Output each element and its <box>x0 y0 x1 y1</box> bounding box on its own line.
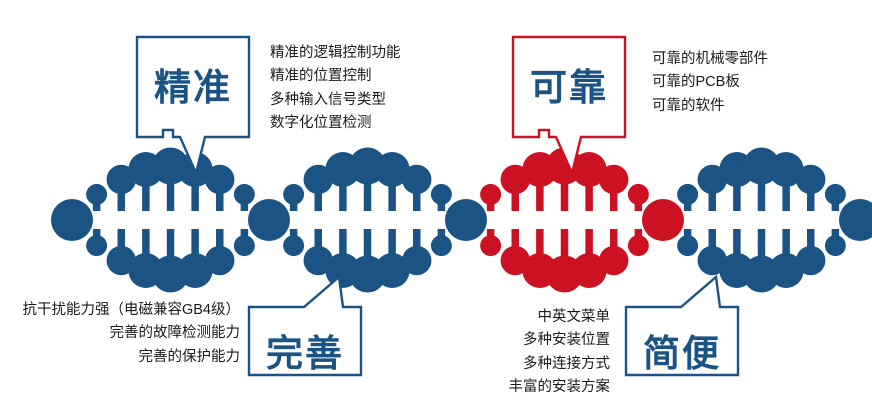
list-complete-item-2: 完善的保护能力 <box>18 346 240 369</box>
list-reliable: 可靠的机械零部件 可靠的PCB板 可靠的软件 <box>652 48 768 118</box>
list-precise-item-3: 数字化位置检测 <box>270 112 401 135</box>
list-complete: 抗干扰能力强（电磁兼容GB4级） 完善的故障检测能力 完善的保护能力 <box>18 299 240 369</box>
list-complete-item-1: 完善的故障检测能力 <box>18 322 240 345</box>
callout-reliable-keyword: 可靠 <box>512 36 626 138</box>
list-complete-item-0: 抗干扰能力强（电磁兼容GB4级） <box>18 299 240 322</box>
callout-simple-keyword: 简便 <box>625 306 739 400</box>
list-precise: 精准的逻辑控制功能 精准的位置控制 多种输入信号类型 数字化位置检测 <box>270 42 401 136</box>
list-precise-item-0: 精准的逻辑控制功能 <box>270 42 401 65</box>
list-reliable-item-1: 可靠的PCB板 <box>652 71 768 94</box>
diagram-canvas: 精准 精准的逻辑控制功能 精准的位置控制 多种输入信号类型 数字化位置检测 可靠… <box>0 0 872 415</box>
list-reliable-item-0: 可靠的机械零部件 <box>652 48 768 71</box>
callout-complete-keyword: 完善 <box>248 306 362 400</box>
callout-precise-keyword: 精准 <box>136 36 250 138</box>
callout-simple[interactable]: 简便 <box>625 306 739 400</box>
list-precise-item-1: 精准的位置控制 <box>270 65 401 88</box>
callout-precise[interactable]: 精准 <box>136 36 250 138</box>
callout-reliable[interactable]: 可靠 <box>512 36 626 138</box>
list-simple-item-2: 多种连接方式 <box>495 353 610 376</box>
list-simple-item-3: 丰富的安装方案 <box>495 376 610 399</box>
list-precise-item-2: 多种输入信号类型 <box>270 89 401 112</box>
list-simple: 中英文菜单 多种安装位置 多种连接方式 丰富的安装方案 <box>495 306 610 400</box>
list-simple-item-0: 中英文菜单 <box>495 306 610 329</box>
callout-complete[interactable]: 完善 <box>248 306 362 400</box>
list-simple-item-1: 多种安装位置 <box>495 329 610 352</box>
list-reliable-item-2: 可靠的软件 <box>652 95 768 118</box>
